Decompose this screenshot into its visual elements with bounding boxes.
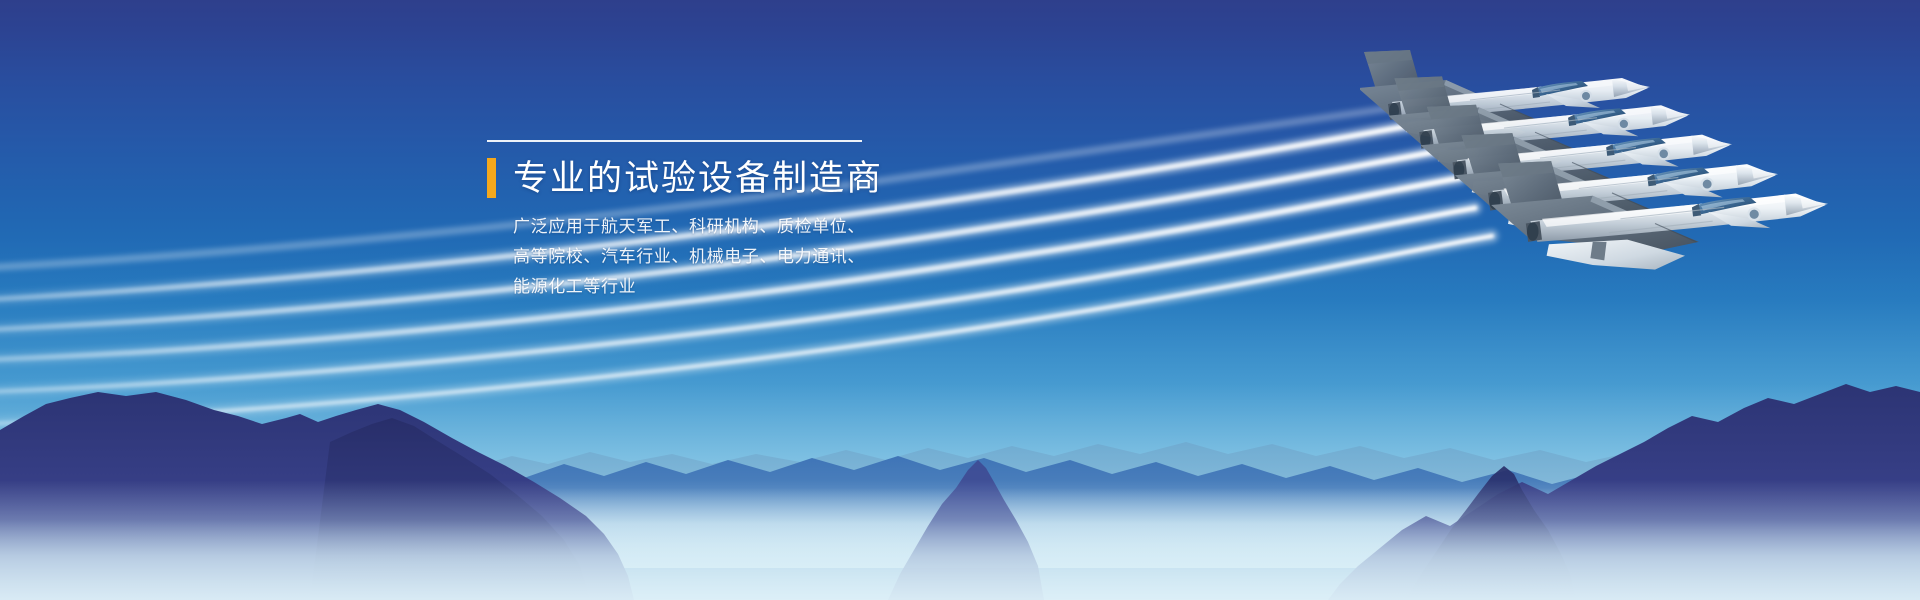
- mountain-range: [0, 370, 1920, 600]
- mist-foreground-veil: [0, 520, 1920, 600]
- headline-row: 专业的试验设备制造商: [487, 158, 917, 198]
- jet-formation: [1360, 48, 1830, 298]
- subtitle-line-1: 广泛应用于航天军工、科研机构、质检单位、: [513, 212, 917, 242]
- subtitle-line-2: 高等院校、汽车行业、机械电子、电力通讯、: [513, 242, 917, 272]
- hero-subtitle: 广泛应用于航天军工、科研机构、质检单位、 高等院校、汽车行业、机械电子、电力通讯…: [513, 212, 917, 302]
- headline-divider-rule: [487, 140, 862, 142]
- page-title: 专业的试验设备制造商: [513, 161, 883, 196]
- hero-copy-block: 专业的试验设备制造商 广泛应用于航天军工、科研机构、质检单位、 高等院校、汽车行…: [487, 140, 917, 302]
- accent-bar: [487, 158, 496, 198]
- hero-banner: 专业的试验设备制造商 广泛应用于航天军工、科研机构、质检单位、 高等院校、汽车行…: [0, 0, 1920, 600]
- subtitle-line-3: 能源化工等行业: [513, 272, 917, 302]
